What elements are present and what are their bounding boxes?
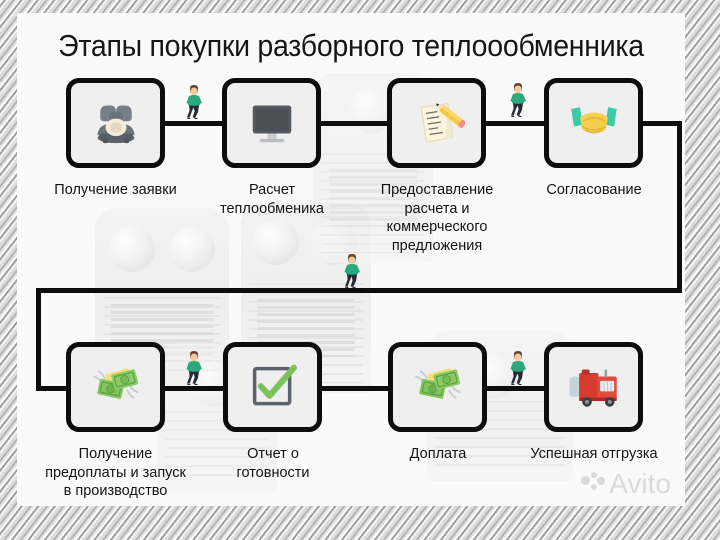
connector-6-7 <box>317 386 389 391</box>
memo-pencil-icon <box>409 95 465 151</box>
step-label-7: Доплата <box>363 445 513 464</box>
connector-7-8 <box>483 386 545 391</box>
step-label-5-line-1: Получение <box>17 445 214 464</box>
step-label-3-line-3: коммерческого <box>352 218 522 237</box>
avito-logo-icon <box>581 472 605 496</box>
step-box-8[interactable] <box>544 342 643 432</box>
step-label-1: Получение заявки <box>17 181 214 200</box>
step-label-8: Успешная отгрузка <box>504 445 684 464</box>
connector-5-6 <box>163 386 225 391</box>
step-label-4: Согласование <box>514 181 674 200</box>
step-label-4-line-1: Согласование <box>514 181 674 200</box>
page-title: Этапы покупки разборного теплоообменника <box>44 27 659 65</box>
step-box-1[interactable] <box>66 78 165 168</box>
step-label-6-line-1: Отчет о <box>203 445 343 464</box>
handshake-icon <box>566 95 622 151</box>
walking-person-icon <box>507 83 529 117</box>
step-label-5-line-3: в производство <box>17 482 214 501</box>
step-label-2-line-1: Расчет <box>197 181 347 200</box>
money-with-wings-icon <box>88 359 144 415</box>
connector-3-4 <box>483 121 545 126</box>
walking-person-icon <box>183 85 205 119</box>
connector-4-5-vertical-right <box>677 121 682 293</box>
connector-2-3 <box>318 121 388 126</box>
step-box-4[interactable] <box>544 78 643 168</box>
step-box-6[interactable] <box>223 342 322 432</box>
step-box-3[interactable] <box>387 78 486 168</box>
step-label-2-line-2: теплообменика <box>197 200 347 219</box>
connector-4-5-vertical-left <box>36 288 41 391</box>
poster-frame: Этапы покупки разборного теплоообменника <box>0 0 720 540</box>
telephone-icon <box>88 95 144 151</box>
step-box-5[interactable] <box>66 342 165 432</box>
avito-wordmark: Avito <box>609 470 671 498</box>
step-label-6: Отчет о готовности <box>203 445 343 482</box>
check-box-icon <box>245 359 301 415</box>
step-label-6-line-2: готовности <box>203 464 343 483</box>
step-label-3-line-2: расчета и <box>352 200 522 219</box>
connector-4-5-horizontal-bottom <box>36 288 682 293</box>
money-with-wings-icon <box>410 359 466 415</box>
step-label-1-line-1: Получение заявки <box>17 181 214 200</box>
avito-watermark: Avito <box>581 470 671 498</box>
step-label-8-line-1: Успешная отгрузка <box>504 445 684 464</box>
step-label-5-line-2: предоплаты и запуск <box>17 464 214 483</box>
walking-person-icon <box>183 351 205 385</box>
poster-canvas: Этапы покупки разборного теплоообменника <box>17 13 685 506</box>
step-label-3-line-4: предложения <box>352 237 522 256</box>
step-label-3: Предоставление расчета и коммерческого п… <box>352 181 522 255</box>
step-label-2: Расчет теплообменика <box>197 181 347 218</box>
step-box-2[interactable] <box>222 78 321 168</box>
desktop-computer-icon <box>244 95 300 151</box>
step-label-3-line-1: Предоставление <box>352 181 522 200</box>
connector-4-5-horizontal-top <box>640 121 682 126</box>
connector-1-2 <box>163 121 223 126</box>
step-label-7-line-1: Доплата <box>363 445 513 464</box>
step-box-7[interactable] <box>388 342 487 432</box>
walking-person-icon <box>507 351 529 385</box>
walking-person-icon <box>341 254 363 288</box>
delivery-truck-icon <box>566 359 622 415</box>
step-label-5: Получение предоплаты и запуск в производ… <box>17 445 214 501</box>
